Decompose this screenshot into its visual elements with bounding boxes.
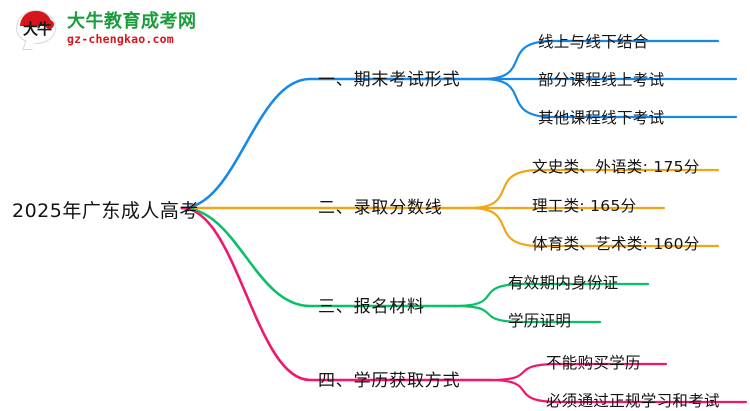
leaf-node-label[interactable]: 文史类、外语类: 175分	[532, 155, 700, 177]
leaf-node-label[interactable]: 理工类: 165分	[532, 194, 636, 216]
leaf-node-label[interactable]: 学历证明	[508, 309, 571, 331]
logo-mark-text: 大牛	[18, 21, 56, 38]
branch-node-label-1[interactable]: 一、期末考试形式	[318, 65, 460, 90]
logo-bubble-icon: 大牛	[14, 8, 60, 50]
leaf-node-label[interactable]: 线上与线下结合	[538, 30, 649, 52]
leaf-node-label[interactable]: 其他课程线下考试	[538, 106, 664, 128]
mindmap-edges	[182, 41, 746, 402]
leaf-node-label[interactable]: 部分课程线上考试	[538, 68, 664, 90]
branch-node-label-3[interactable]: 三、报名材料	[318, 292, 425, 317]
brand-name: 大牛教育成考网	[67, 13, 197, 32]
leaf-node-label[interactable]: 有效期内身份证	[508, 271, 619, 293]
logo-text-block: 大牛教育成考网 gz-chengkao.com	[67, 13, 197, 46]
leaf-node-label[interactable]: 必须通过正规学习和考试	[546, 389, 720, 411]
leaf-node-label[interactable]: 不能购买学历	[546, 351, 641, 373]
leaf-node-label[interactable]: 体育类、艺术类: 160分	[532, 232, 700, 254]
brand-url: gz-chengkao.com	[67, 33, 197, 45]
branch-node-label-4[interactable]: 四、学历获取方式	[318, 366, 460, 391]
branch-node-label-2[interactable]: 二、录取分数线	[318, 193, 443, 218]
mindmap-connector	[182, 79, 483, 208]
site-watermark-logo: 大牛 大牛教育成考网 gz-chengkao.com	[14, 8, 197, 50]
root-node-label: 2025年广东成人高考	[12, 196, 199, 223]
